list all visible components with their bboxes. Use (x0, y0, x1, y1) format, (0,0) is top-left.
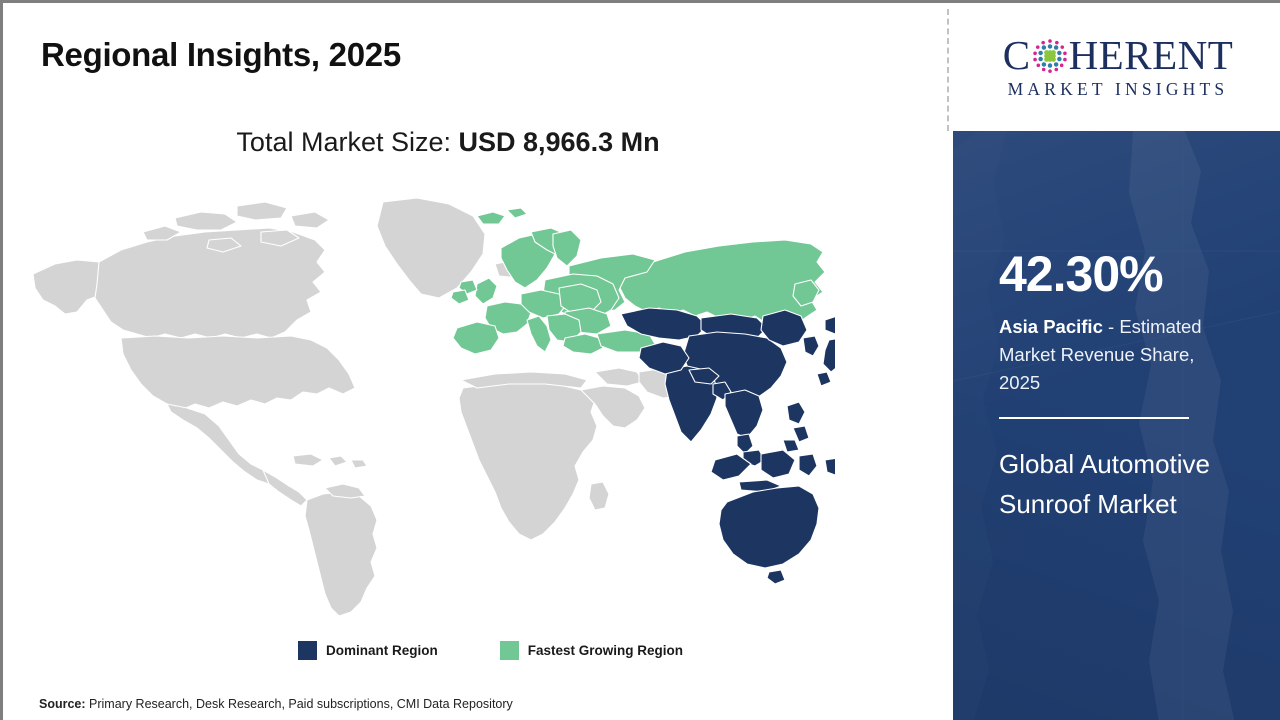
brand-logo: C (953, 3, 1280, 131)
vertical-dashed-divider (947, 9, 949, 131)
stat-panel: 42.30% Asia Pacific - Estimated Market R… (953, 131, 1280, 720)
square-swatch-icon (500, 641, 519, 660)
logo-wordmark-post: HERENT (1069, 35, 1234, 76)
map-region-dominant (621, 308, 835, 584)
legend-item-fastest-growing: Fastest Growing Region (500, 641, 683, 660)
stat-description: Asia Pacific - Estimated Market Revenue … (999, 313, 1237, 397)
stat-region-name: Asia Pacific (999, 316, 1103, 337)
logo-wordmark-pre: C (1003, 35, 1031, 76)
source-line: Source: Primary Research, Desk Research,… (39, 697, 513, 711)
square-swatch-icon (298, 641, 317, 660)
market-name: Global Automotive Sunroof Market (999, 445, 1229, 524)
market-size-value: USD 8,966.3 Mn (459, 127, 660, 157)
stat-divider-rule (999, 417, 1189, 419)
logo-wordmark: C (977, 35, 1259, 76)
legend-label-fastest-growing: Fastest Growing Region (528, 643, 683, 658)
map-legend: Dominant Region Fastest Growing Region (298, 641, 683, 660)
logo-tagline: MARKET INSIGHTS (977, 79, 1259, 100)
source-label: Source: (39, 697, 86, 711)
regional-insights-infographic: Regional Insights, 2025 Total Market Siz… (0, 0, 1280, 720)
total-market-size: Total Market Size: USD 8,966.3 Mn (3, 127, 893, 158)
market-size-label: Total Market Size: (236, 127, 458, 157)
legend-item-dominant: Dominant Region (298, 641, 438, 660)
world-map-svg (25, 188, 835, 618)
legend-label-dominant: Dominant Region (326, 643, 438, 658)
dotted-globe-icon (1032, 38, 1068, 74)
left-content-panel: Regional Insights, 2025 Total Market Siz… (3, 3, 950, 720)
world-map (25, 188, 835, 618)
page-title: Regional Insights, 2025 (41, 36, 401, 74)
stat-percent-value: 42.30% (999, 249, 1237, 299)
source-text: Primary Research, Desk Research, Paid su… (86, 697, 513, 711)
